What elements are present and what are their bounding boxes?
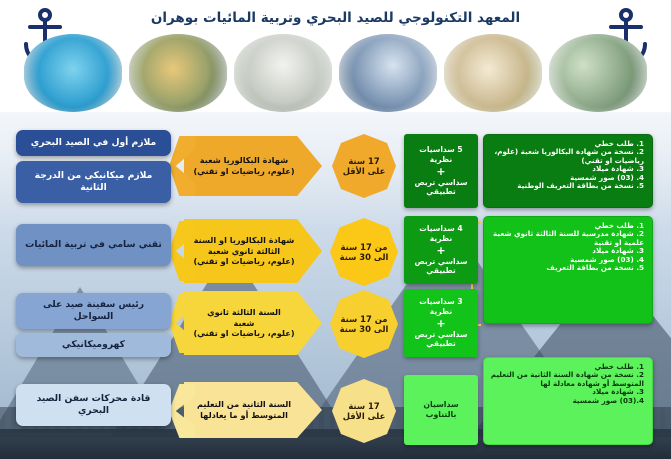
- requirement-line-1: شهادة البكالوريا او السنة: [194, 235, 295, 245]
- photo-strip: [0, 34, 671, 112]
- duration-internship: سداسي تربص تطبيقي: [414, 257, 467, 276]
- aquaculture-worker-photo: [444, 34, 542, 112]
- requirement-line-2: المتوسط أو ما يعادلها: [200, 410, 288, 420]
- job-title-box: تقني سامي في تربية المائيات: [16, 224, 171, 266]
- age-hexagon-row2: من 17 سنة الى 30 سنة: [330, 218, 398, 286]
- institute-building-photo: [234, 34, 332, 112]
- age-hexagon-row3: من 17 سنة الى 30 سنة: [330, 290, 398, 358]
- underwater-reef-photo: [24, 34, 122, 112]
- poster-header: المعهد التكنولوجي للصيد البحري وتربية ال…: [0, 0, 671, 112]
- duration-box-row4: سداسيان بالتناوب: [404, 375, 478, 445]
- job-title-label: ملازم أول في الصيد البحري: [31, 137, 156, 149]
- age-line-1: من 17 سنة: [341, 314, 388, 324]
- age-line-1: 17 سنة: [348, 401, 379, 411]
- job-title-label: تقني سامي في تربية المائيات: [25, 239, 162, 251]
- duration-theory: 5 سداسيات نظرية: [419, 145, 462, 164]
- duration-box-row1: 5 سداسيات نظرية + سداسي تربص تطبيقي: [404, 134, 478, 208]
- documents-box-row4: 1. طلب خطي 2. نسخة من شهادة السنة الثاني…: [483, 357, 653, 445]
- job-title-box: رئيس سفينة صيد على السواحل: [16, 293, 171, 329]
- duration-box-row2: 4 سداسيات نظرية + سداسي تربص تطبيقي: [404, 216, 478, 284]
- duration-plus: +: [407, 318, 475, 329]
- job-title-label: قادة محركات سفن الصيد البحري: [22, 393, 165, 417]
- age-line-2: على الأقل: [343, 166, 386, 176]
- age-line-1: من 17 سنة: [341, 242, 388, 252]
- requirement-line-2: الثالثة ثانوي شعبة: [208, 246, 280, 256]
- job-title-label: رئيس سفينة صيد على السواحل: [22, 299, 165, 323]
- age-line-2: الى 30 سنة: [340, 324, 389, 334]
- requirement-arrow-row1: شهادة البكالوريا شعبة (علوم، رياضيات او …: [184, 136, 322, 196]
- job-title-label: ملازم ميكانيكي من الدرجة الثانية: [22, 170, 165, 194]
- duration-theory: 3 سداسيات نظرية: [419, 297, 462, 316]
- age-line-2: الى 30 سنة: [340, 252, 389, 262]
- duration-plus: +: [407, 166, 475, 177]
- job-title-box: قادة محركات سفن الصيد البحري: [16, 384, 171, 426]
- job-title-label: كهروميكانيكي: [62, 339, 125, 351]
- requirement-arrow-row2: شهادة البكالوريا او السنة الثالثة ثانوي …: [184, 219, 322, 283]
- requirement-arrow-row4: السنة الثانية من التعليم المتوسط أو ما ي…: [184, 382, 322, 438]
- fishing-boat-photo: [549, 34, 647, 112]
- duration-theory: سداسيان بالتناوب: [423, 400, 458, 419]
- document-item: 4.(03) صور شمسية: [490, 397, 644, 405]
- duration-internship: سداسي تربص تطبيقي: [414, 178, 467, 197]
- document-item: 5. نسخة من بطاقة التعريف الوطنية: [490, 182, 644, 190]
- duration-box-row3: 3 سداسيات نظرية + سداسي تربص تطبيقي: [404, 289, 478, 357]
- requirement-line-2: (علوم، رياضيات او تقني): [193, 166, 294, 176]
- document-item: 5. نسخة من بطاقة التعريف: [490, 264, 644, 272]
- document-item: 2. نسخة من شهادة البكالوريا شعبة (علوم، …: [490, 148, 644, 165]
- age-hexagon-row4: 17 سنة على الأقل: [332, 379, 396, 443]
- document-item: 2. نسخة من شهادة السنة الثانية من التعلي…: [490, 371, 644, 388]
- requirement-line-3: (علوم، رياضيات او تقني): [193, 328, 294, 338]
- institute-title: المعهد التكنولوجي للصيد البحري وتربية ال…: [0, 10, 671, 26]
- age-hexagon-row1: 17 سنة على الأقل: [332, 134, 396, 198]
- age-line-1: 17 سنة: [348, 156, 379, 166]
- documents-box-row1: 1. طلب خطي 2. نسخة من شهادة البكالوريا ش…: [483, 134, 653, 208]
- net-repair-technicians-photo: [339, 34, 437, 112]
- duration-internship: سداسي تربص تطبيقي: [414, 330, 467, 349]
- requirement-line-1: شهادة البكالوريا شعبة: [200, 155, 288, 165]
- duration-theory: 4 سداسيات نظرية: [419, 224, 462, 243]
- requirement-arrow-row3: السنة الثالثة ثانوي شعبة (علوم، رياضيات …: [184, 291, 322, 355]
- requirement-line-2: شعبة: [234, 318, 255, 328]
- requirement-line-1: السنة الثانية من التعليم: [197, 399, 291, 409]
- requirement-line-3: (علوم، رياضيات او تقني): [193, 256, 294, 266]
- job-title-box: ملازم أول في الصيد البحري: [16, 130, 171, 156]
- requirement-line-1: السنة الثالثة ثانوي: [207, 307, 281, 317]
- job-title-box: كهروميكانيكي: [16, 333, 171, 357]
- infographic-poster: المعهد التكنولوجي للصيد البحري وتربية ال…: [0, 0, 671, 459]
- diver-equipment-photo: [129, 34, 227, 112]
- documents-box-row2: 1. طلب خطي 2. شهادة مدرسية للسنة الثالثة…: [483, 216, 653, 324]
- age-line-2: على الأقل: [343, 411, 386, 421]
- duration-plus: +: [407, 245, 475, 256]
- job-title-box: ملازم ميكانيكي من الدرجة الثانية: [16, 161, 171, 203]
- document-item: 2. شهادة مدرسية للسنة الثالثة ثانوي شعبة…: [490, 230, 644, 247]
